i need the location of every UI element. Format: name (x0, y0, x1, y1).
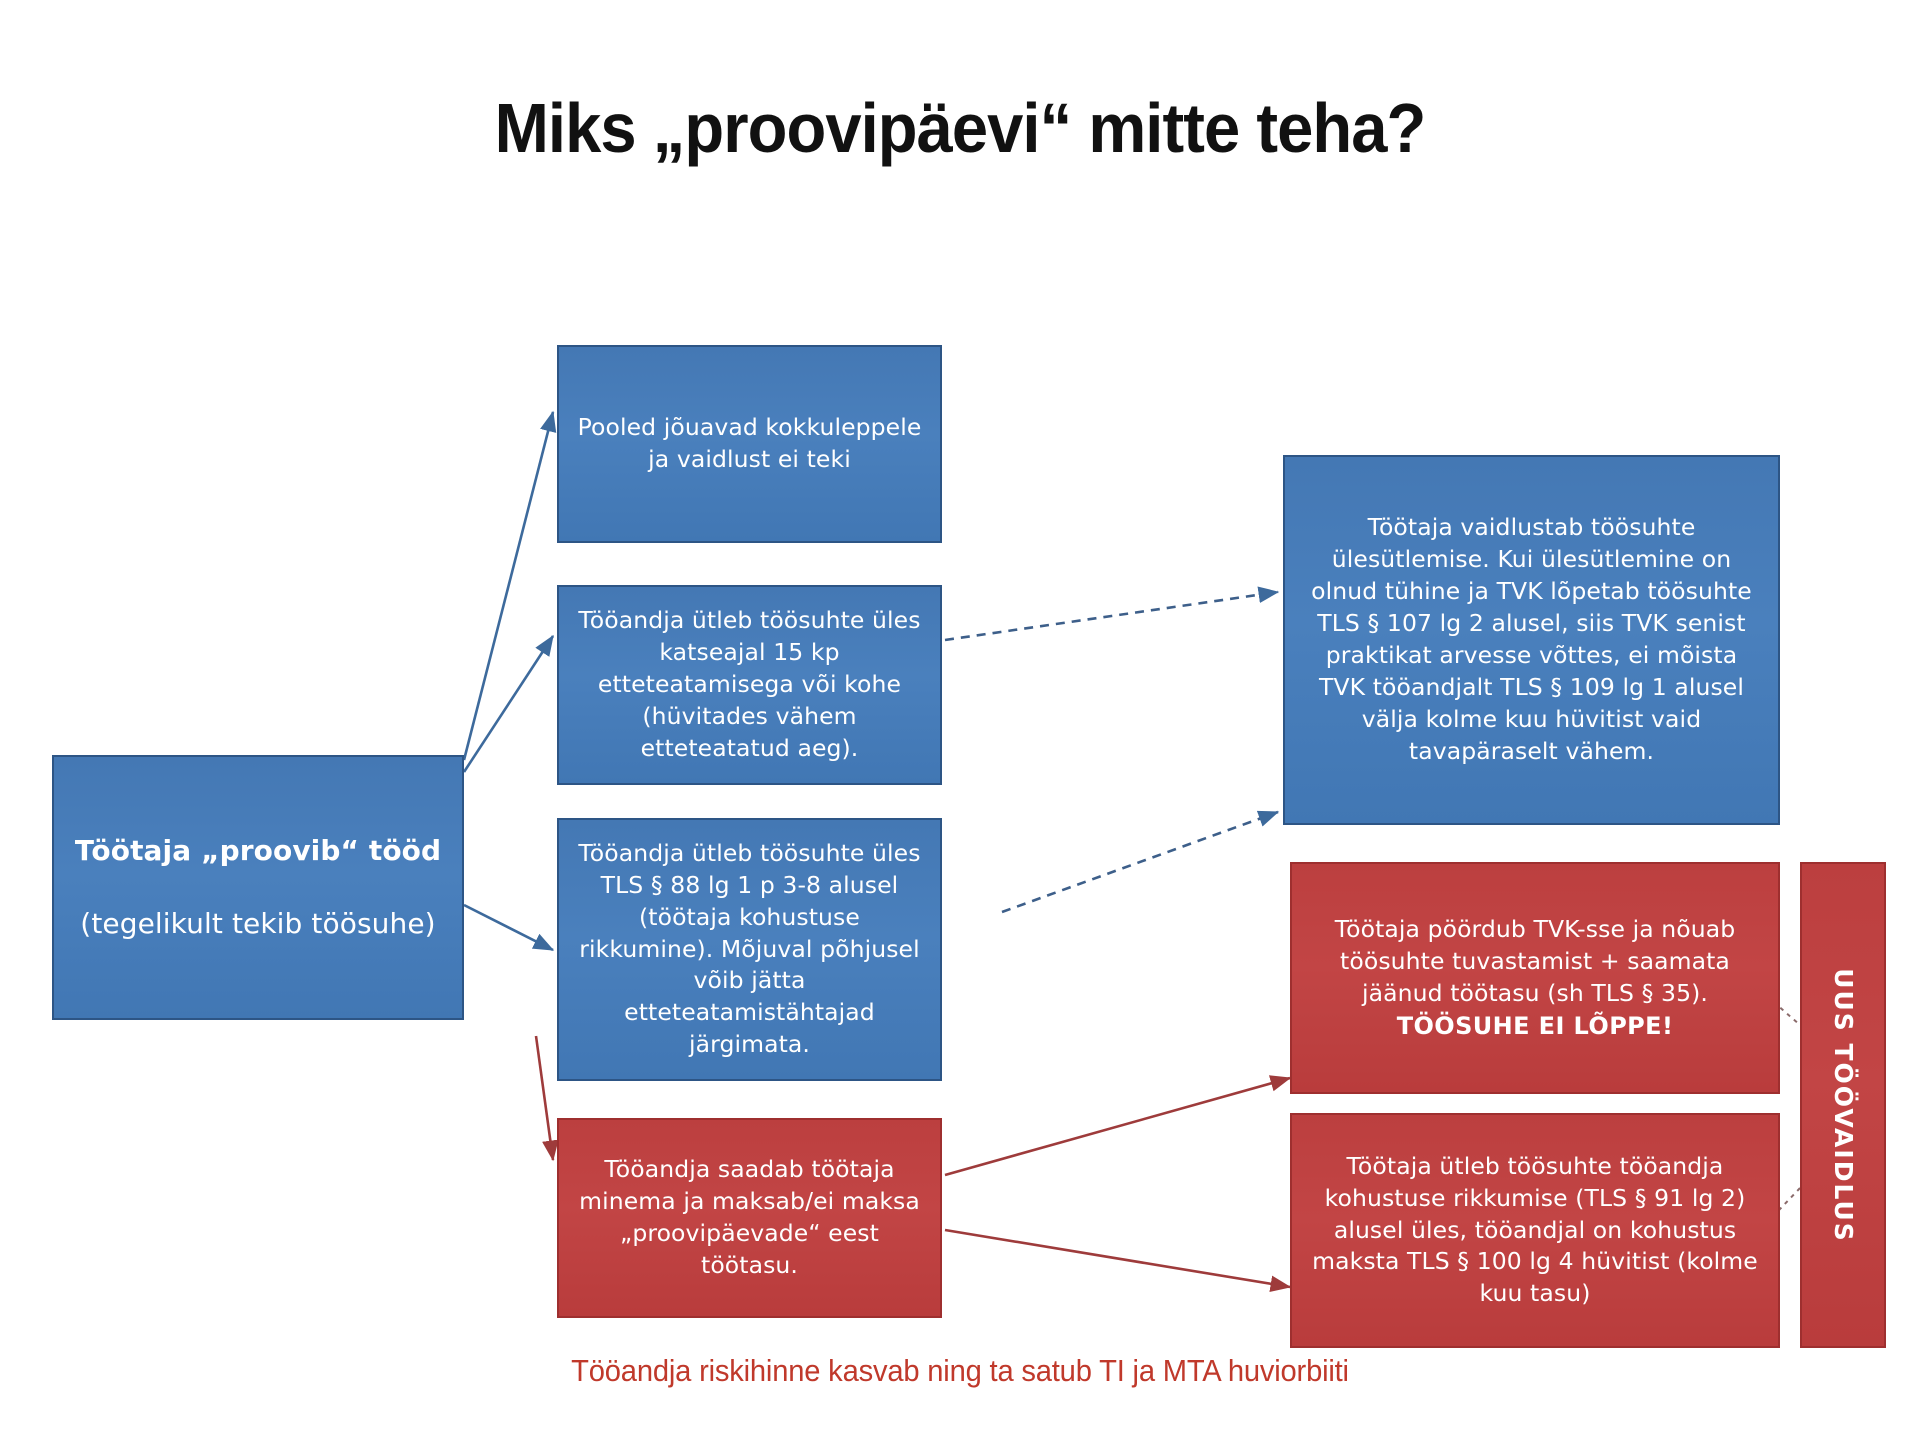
node-probation-notice-text: Tööandja ütleb töösuhte üles katseajal 1… (573, 605, 926, 765)
node-start[interactable]: Töötaja „proovib“ tööd (tegelikult tekib… (52, 755, 464, 1020)
arrow-start-to-sentaway (536, 1036, 553, 1160)
node-dispute-outcome-text: Töötaja vaidlustab töösuhte ülesütlemise… (1299, 512, 1764, 768)
node-sent-away[interactable]: Tööandja saadab töötaja minema ja maksab… (557, 1118, 942, 1318)
node-employee-terminates[interactable]: Töötaja ütleb töösuhte tööandja kohustus… (1290, 1113, 1780, 1348)
node-new-dispute[interactable]: UUS TÖÖVAIDLUS (1800, 862, 1886, 1348)
node-tvk-claim[interactable]: Töötaja pöördub TVK-sse ja nõuab töösuht… (1290, 862, 1780, 1094)
node-start-sub: (tegelikult tekib töösuhe) (80, 905, 435, 943)
node-tvk-claim-text: Töötaja pöördub TVK-sse ja nõuab töösuht… (1306, 914, 1764, 1010)
arrow-sentaway-to-employeeterminates (945, 1230, 1290, 1287)
node-agreement[interactable]: Pooled jõuavad kokkuleppele ja vaidlust … (557, 345, 942, 543)
footer-note: Tööandja riskihinne kasvab ning ta satub… (58, 1353, 1863, 1389)
node-agreement-text: Pooled jõuavad kokkuleppele ja vaidlust … (573, 412, 926, 476)
node-sent-away-text: Tööandja saadab töötaja minema ja maksab… (573, 1154, 926, 1282)
slide-canvas: Miks „proovipäevi“ mitte teha? (0, 0, 1920, 1429)
node-probation-notice[interactable]: Tööandja ütleb töösuhte üles katseajal 1… (557, 585, 942, 785)
node-start-lead: Töötaja „proovib“ tööd (75, 832, 441, 870)
arrow-start-to-breach (464, 905, 553, 950)
node-dispute-outcome[interactable]: Töötaja vaidlustab töösuhte ülesütlemise… (1283, 455, 1780, 825)
arrow-sentaway-to-tvkclaim (945, 1078, 1290, 1175)
page-title: Miks „proovipäevi“ mitte teha? (67, 88, 1853, 168)
arrow-start-to-probation (464, 636, 553, 772)
arrow-start-to-agreement (464, 412, 553, 760)
arrow-probation-to-dispute (945, 592, 1278, 640)
node-new-dispute-label: UUS TÖÖVAIDLUS (1829, 968, 1858, 1243)
node-breach-notice[interactable]: Tööandja ütleb töösuhte üles TLS § 88 lg… (557, 818, 942, 1081)
arrow-breach-to-dispute (1002, 812, 1278, 912)
node-employee-terminates-text: Töötaja ütleb töösuhte tööandja kohustus… (1306, 1151, 1764, 1311)
node-breach-notice-text: Tööandja ütleb töösuhte üles TLS § 88 lg… (573, 838, 926, 1062)
node-tvk-claim-emphasis: TÖÖSUHE EI LÕPPE! (1397, 1010, 1674, 1043)
